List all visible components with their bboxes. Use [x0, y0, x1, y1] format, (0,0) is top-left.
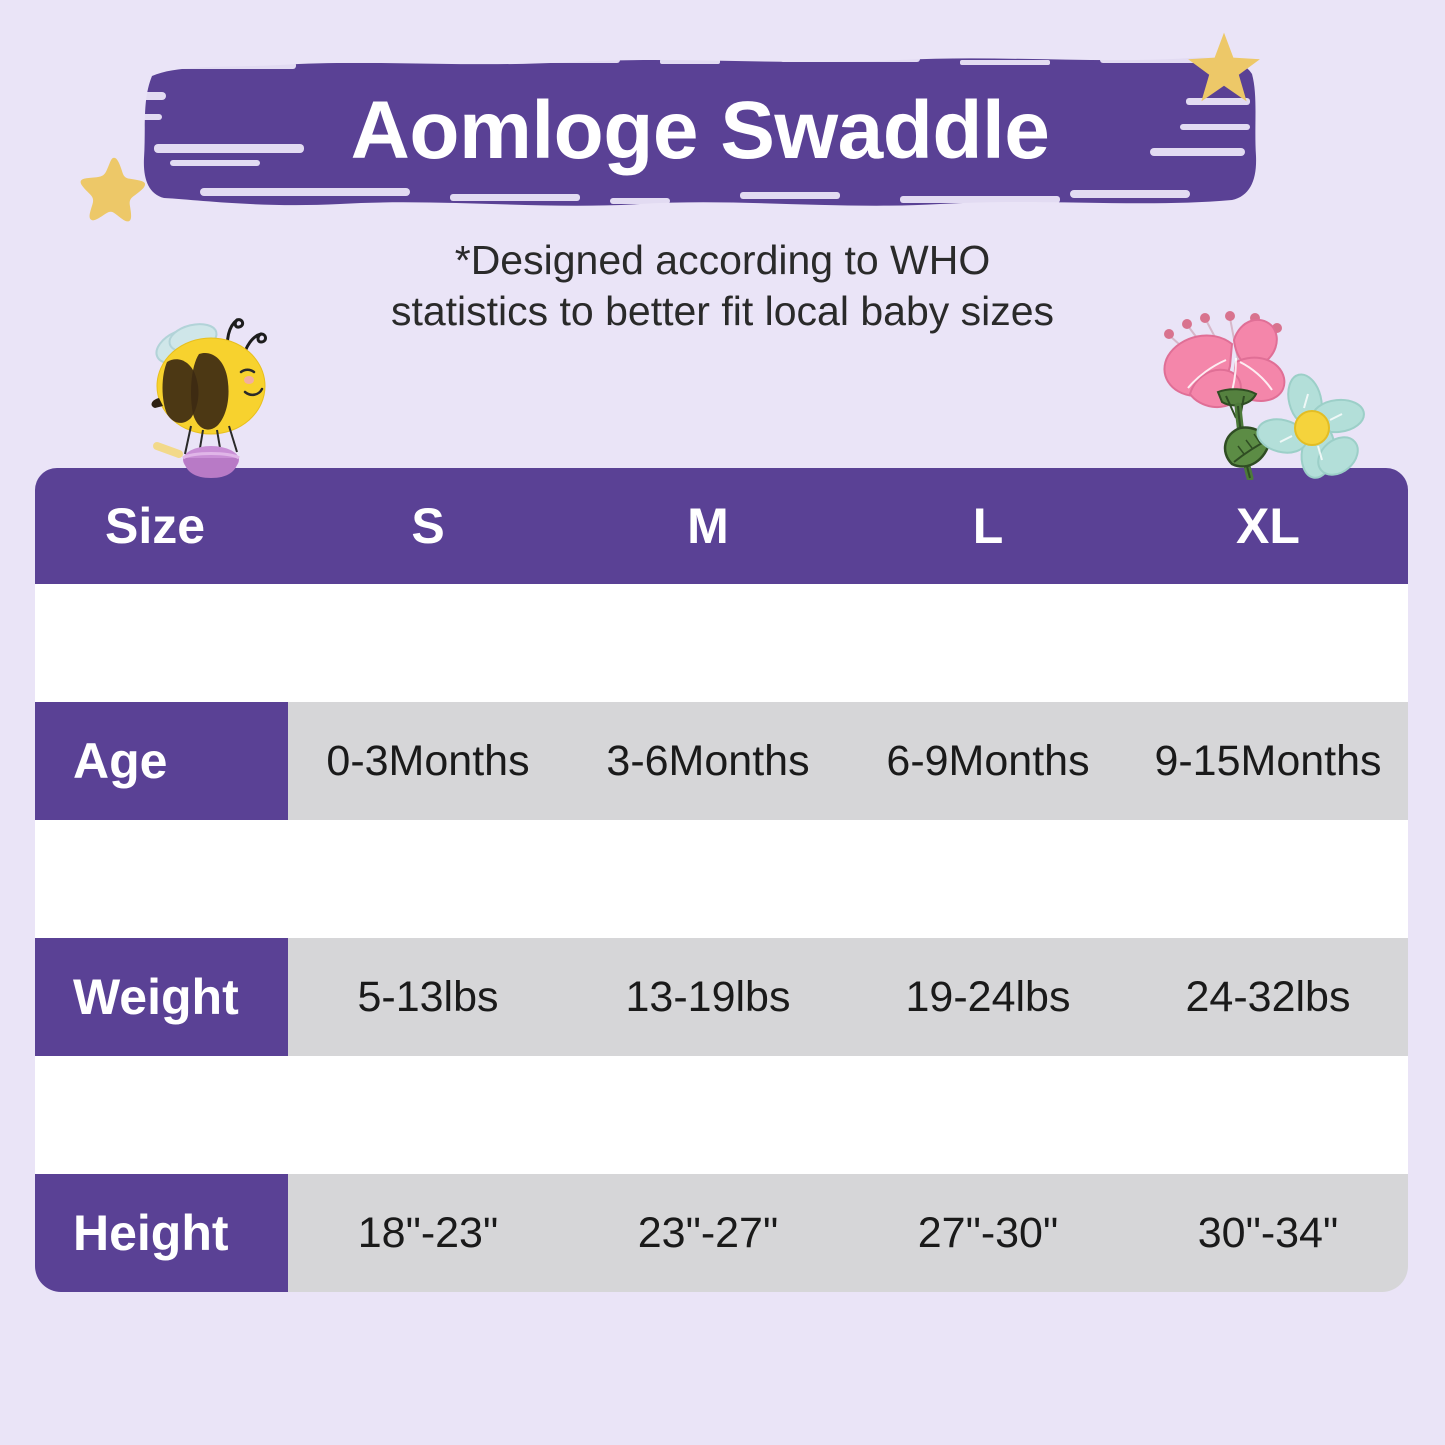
table-header-size-s: S: [288, 497, 568, 555]
table-spacer-row: [35, 820, 1408, 938]
subtitle-line-1: *Designed according to WHO: [0, 235, 1445, 286]
star-icon: [78, 152, 150, 224]
size-chart-table: Size S M L XL Age 0-3Months 3-6Months 6-…: [35, 468, 1408, 1292]
cell-weight-m: 13-19lbs: [568, 973, 848, 1022]
table-row: Weight 5-13lbs 13-19lbs 19-24lbs 24-32lb…: [35, 938, 1408, 1056]
cell-age-m: 3-6Months: [568, 737, 848, 786]
table-spacer-row: [35, 584, 1408, 702]
cell-weight-l: 19-24lbs: [848, 973, 1128, 1022]
row-values-age: 0-3Months 3-6Months 6-9Months 9-15Months: [288, 702, 1408, 820]
table-header-size-label: Size: [35, 497, 288, 555]
cell-height-m: 23"-27": [568, 1209, 848, 1258]
table-spacer-row: [35, 1056, 1408, 1174]
row-values-height: 18"-23" 23"-27" 27"-30" 30"-34": [288, 1174, 1408, 1292]
table-header-row: Size S M L XL: [35, 468, 1408, 584]
table-header-size-m: M: [568, 497, 848, 555]
table-row: Height 18"-23" 23"-27" 27"-30" 30"-34": [35, 1174, 1408, 1292]
table-header-size-xl: XL: [1128, 497, 1408, 555]
cell-age-s: 0-3Months: [288, 737, 568, 786]
row-values-weight: 5-13lbs 13-19lbs 19-24lbs 24-32lbs: [288, 938, 1408, 1056]
cell-height-l: 27"-30": [848, 1209, 1128, 1258]
cell-weight-s: 5-13lbs: [288, 973, 568, 1022]
table-header-size-l: L: [848, 497, 1128, 555]
flower-icon: [1140, 300, 1365, 480]
table-row: Age 0-3Months 3-6Months 6-9Months 9-15Mo…: [35, 702, 1408, 820]
row-label-age: Age: [35, 702, 288, 820]
cell-height-s: 18"-23": [288, 1209, 568, 1258]
cell-age-xl: 9-15Months: [1128, 737, 1408, 786]
cell-age-l: 6-9Months: [848, 737, 1128, 786]
bee-icon: [133, 308, 293, 478]
row-label-height: Height: [35, 1174, 288, 1292]
row-label-weight: Weight: [35, 938, 288, 1056]
size-chart-page: Aomloge Swaddle *Designed according to W…: [0, 0, 1445, 1445]
cell-weight-xl: 24-32lbs: [1128, 973, 1408, 1022]
cell-height-xl: 30"-34": [1128, 1209, 1408, 1258]
page-title: Aomloge Swaddle: [140, 48, 1260, 213]
title-banner: Aomloge Swaddle: [140, 48, 1260, 213]
